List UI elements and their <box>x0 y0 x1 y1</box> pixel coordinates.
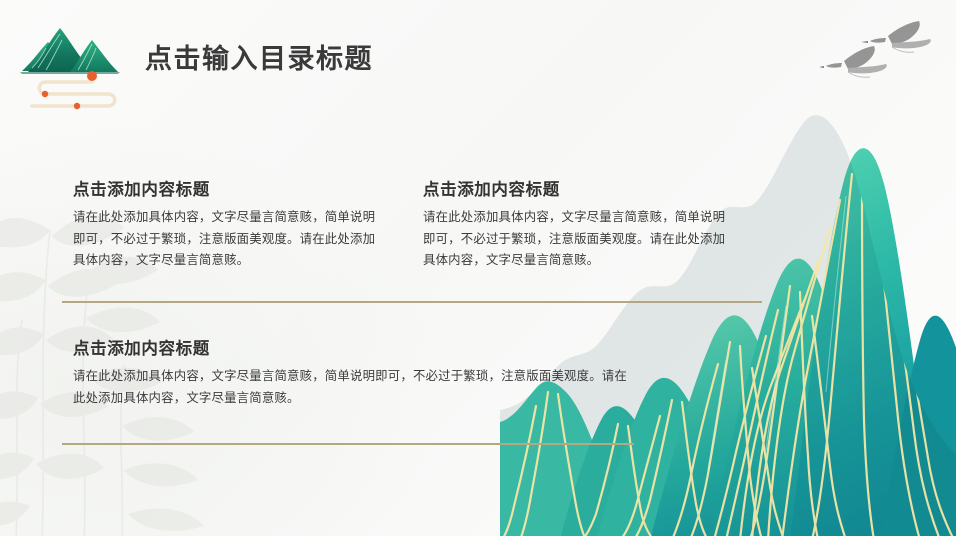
content-heading-2: 点击添加内容标题 <box>423 176 560 200</box>
slide-canvas: 点击输入目录标题 <box>0 0 960 540</box>
divider-bottom <box>62 443 634 445</box>
content-body-1: 请在此处添加具体内容，文字尽量言简意赅，简单说明即可，不必过于繁琐，注意版面美观… <box>73 207 385 272</box>
content-heading-3: 点击添加内容标题 <box>73 335 210 359</box>
content-body-2: 请在此处添加具体内容，文字尽量言简意赅，简单说明即可，不必过于繁琐，注意版面美观… <box>423 207 735 272</box>
bamboo-watermark <box>0 110 272 540</box>
flying-cranes-icon <box>820 14 952 88</box>
content-body-3: 请在此处添加具体内容，文字尽量言简意赅，简单说明即可，不必过于繁琐，注意版面美观… <box>73 366 638 409</box>
page-title: 点击输入目录标题 <box>145 40 373 78</box>
divider-top <box>62 301 762 303</box>
mountain-illustration <box>500 110 960 540</box>
slide-right-edge <box>956 0 960 540</box>
content-heading-1: 点击添加内容标题 <box>73 176 210 200</box>
mountain-moon-logo <box>14 14 136 110</box>
slide-bottom-edge <box>0 536 960 540</box>
